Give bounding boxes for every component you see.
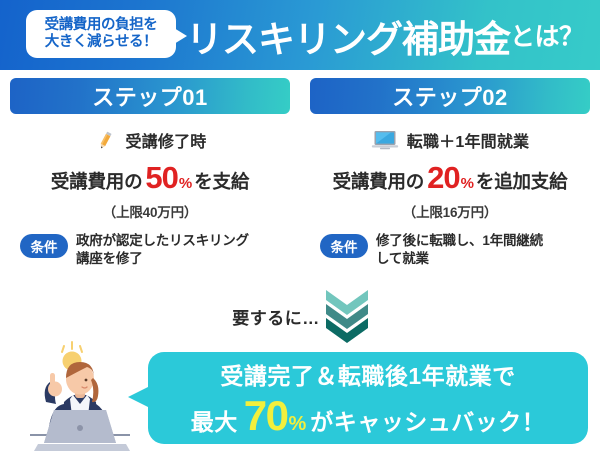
step-cap-01: （上限40万円） [10,201,290,221]
step-subtitle-01: 受講修了時 [125,128,206,152]
callout-tail-icon [128,386,150,408]
page-title: リスキリング補助金 とは？ [186,8,584,64]
step-banner-label-02: ステップ02 [392,80,507,112]
condition-text-01: 政府が認定したリスキリング 講座を修了 [76,232,249,268]
step-banner-02: ステップ02 [310,78,590,114]
header-bubble-line-1: 受講費用の負担を [45,17,158,34]
laptop-icon [371,129,399,151]
step-amount-suffix-02: を追加支給 [476,168,568,194]
transition-label: 要するに… [232,290,320,329]
step-subtitle-02: 転職＋1年間就業 [407,128,530,152]
step-cap-02: （上限16万円） [310,201,590,221]
step-amount-suffix-01: を支給 [194,168,249,194]
chevron-down-icon [326,290,368,344]
step-condition-01: 条件 政府が認定したリスキリング 講座を修了 [10,232,290,268]
callout-line-1: 受講完了＆転職後1年就業で [220,357,515,391]
step-amount-row-01: 受講費用の 50 % を支給 [10,160,290,196]
page-title-suffix: とは？ [510,17,584,55]
step-card-01: ステップ01 受講修了時 受講費用の 50 % を支給 [10,78,290,268]
ponytail [91,378,98,402]
condition-text-line1-01: 政府が認定したリスキリング [76,233,249,248]
condition-text-line2-02: して就業 [376,251,429,266]
step-card-02: ステップ02 転職＋1年間就業 受講費用の 20 % を追加支給 （上限16万円… [310,78,590,268]
step-banner-01: ステップ01 [10,78,290,114]
laptop-illustration-icon [34,410,130,451]
lightbulb-rays-icon [62,342,82,352]
step-amount-prefix-01: 受講費用の [51,168,143,194]
step-amount-percent-01: % [179,175,194,192]
step-condition-02: 条件 修了後に転職し、1年間継続 して就業 [310,232,590,268]
pencil-icon [93,128,117,152]
step-amount-row-02: 受講費用の 20 % を追加支給 [310,160,590,196]
step-subtitle-row-02: 転職＋1年間就業 [310,127,590,153]
callout-line-2: 最大 70 % がキャッシュバック！ [191,392,546,440]
condition-text-line2-01: 講座を修了 [76,251,143,266]
condition-badge-02: 条件 [320,234,368,258]
page-header: 受講費用の負担を 大きく減らせる！ リスキリング補助金 とは？ [0,0,600,70]
step-amount-number-01: 50 [142,160,178,196]
callout-number: 70 [238,392,289,440]
callout-suffix: がキャッシュバック！ [310,403,545,437]
condition-badge-01: 条件 [20,234,68,258]
chevron-down-icon-group [326,290,368,344]
page-title-main: リスキリング補助金 [186,9,510,63]
step-amount-percent-02: % [461,175,476,192]
steps-container: ステップ01 受講修了時 受講費用の 50 % を支給 [0,78,600,268]
illustration-woman-with-laptop [8,340,148,460]
step-subtitle-row-01: 受講修了時 [10,127,290,153]
summary-callout: 受講完了＆転職後1年就業で 最大 70 % がキャッシュバック！ [148,352,588,444]
step-banner-label-01: ステップ01 [92,80,207,112]
condition-text-line1-02: 修了後に転職し、1年間継続 [376,233,543,248]
step-amount-number-02: 20 [424,160,460,196]
step-amount-prefix-02: 受講費用の [333,168,425,194]
transition-row: 要するに… [0,290,600,344]
header-bubble-line-2: 大きく減らせる！ [45,34,158,51]
callout-prefix: 最大 [191,403,238,437]
callout-percent: % [288,413,310,436]
condition-text-02: 修了後に転職し、1年間継続 して就業 [376,232,543,268]
eye [85,379,88,382]
pointing-hand-icon [48,373,62,397]
header-callout-bubble: 受講費用の負担を 大きく減らせる！ [26,10,176,58]
